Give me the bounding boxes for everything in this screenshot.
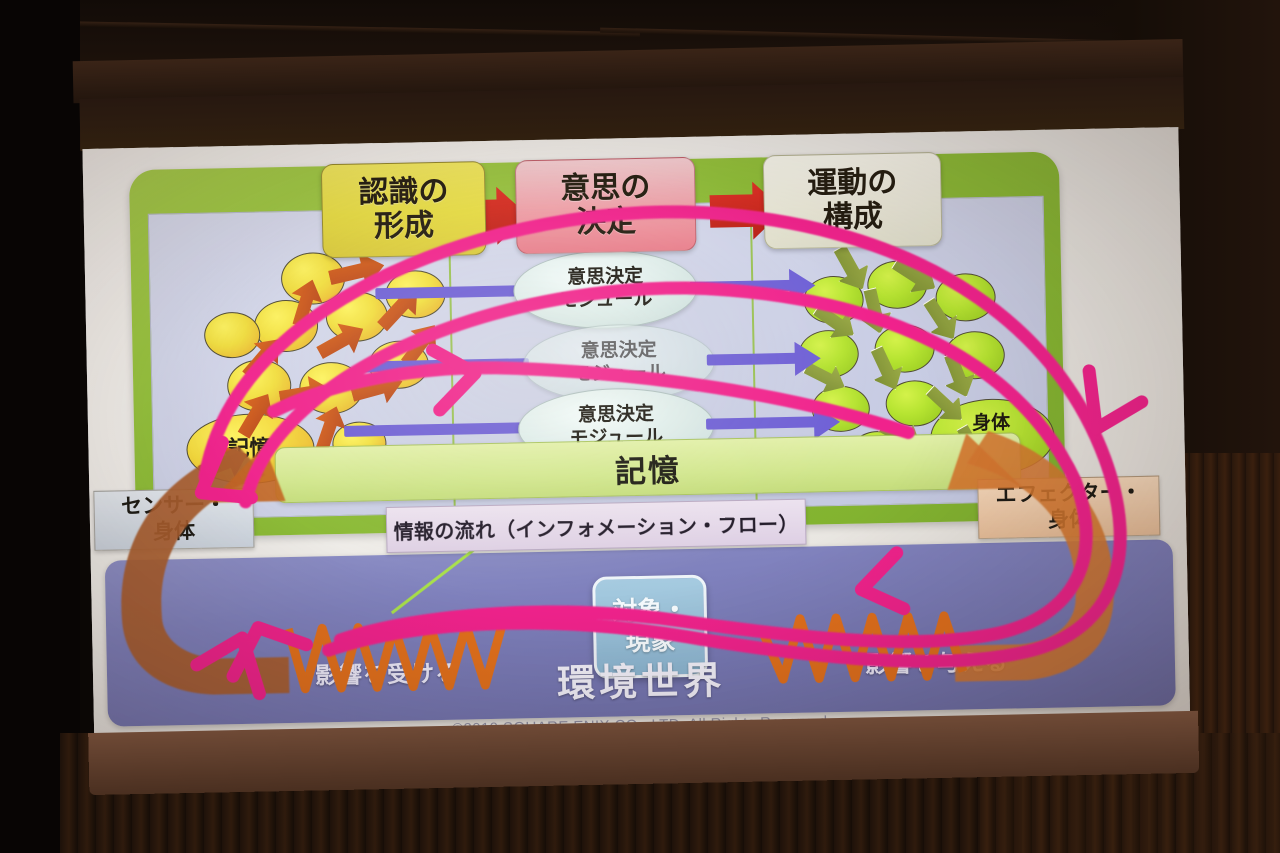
magenta-arrowhead-center: [433, 349, 476, 410]
info-flow-text: 情報の流れ（インフォメーション・フロー）: [393, 507, 799, 544]
screenshot-root: 記憶 身体 制御: [0, 0, 1280, 853]
callout-leader-line: [391, 549, 476, 613]
magenta-arrowhead-env-right: [861, 553, 904, 610]
slide-content: 記憶 身体 制御: [82, 127, 1190, 749]
info-flow-callout: 情報の流れ（インフォメーション・フロー）: [386, 499, 807, 553]
magenta-arrowhead-right-up: [1089, 370, 1142, 429]
magenta-mid-sweep: [273, 359, 908, 445]
diagram-overlay: [82, 127, 1190, 749]
projection-screen: 記憶 身体 制御: [65, 39, 1210, 802]
